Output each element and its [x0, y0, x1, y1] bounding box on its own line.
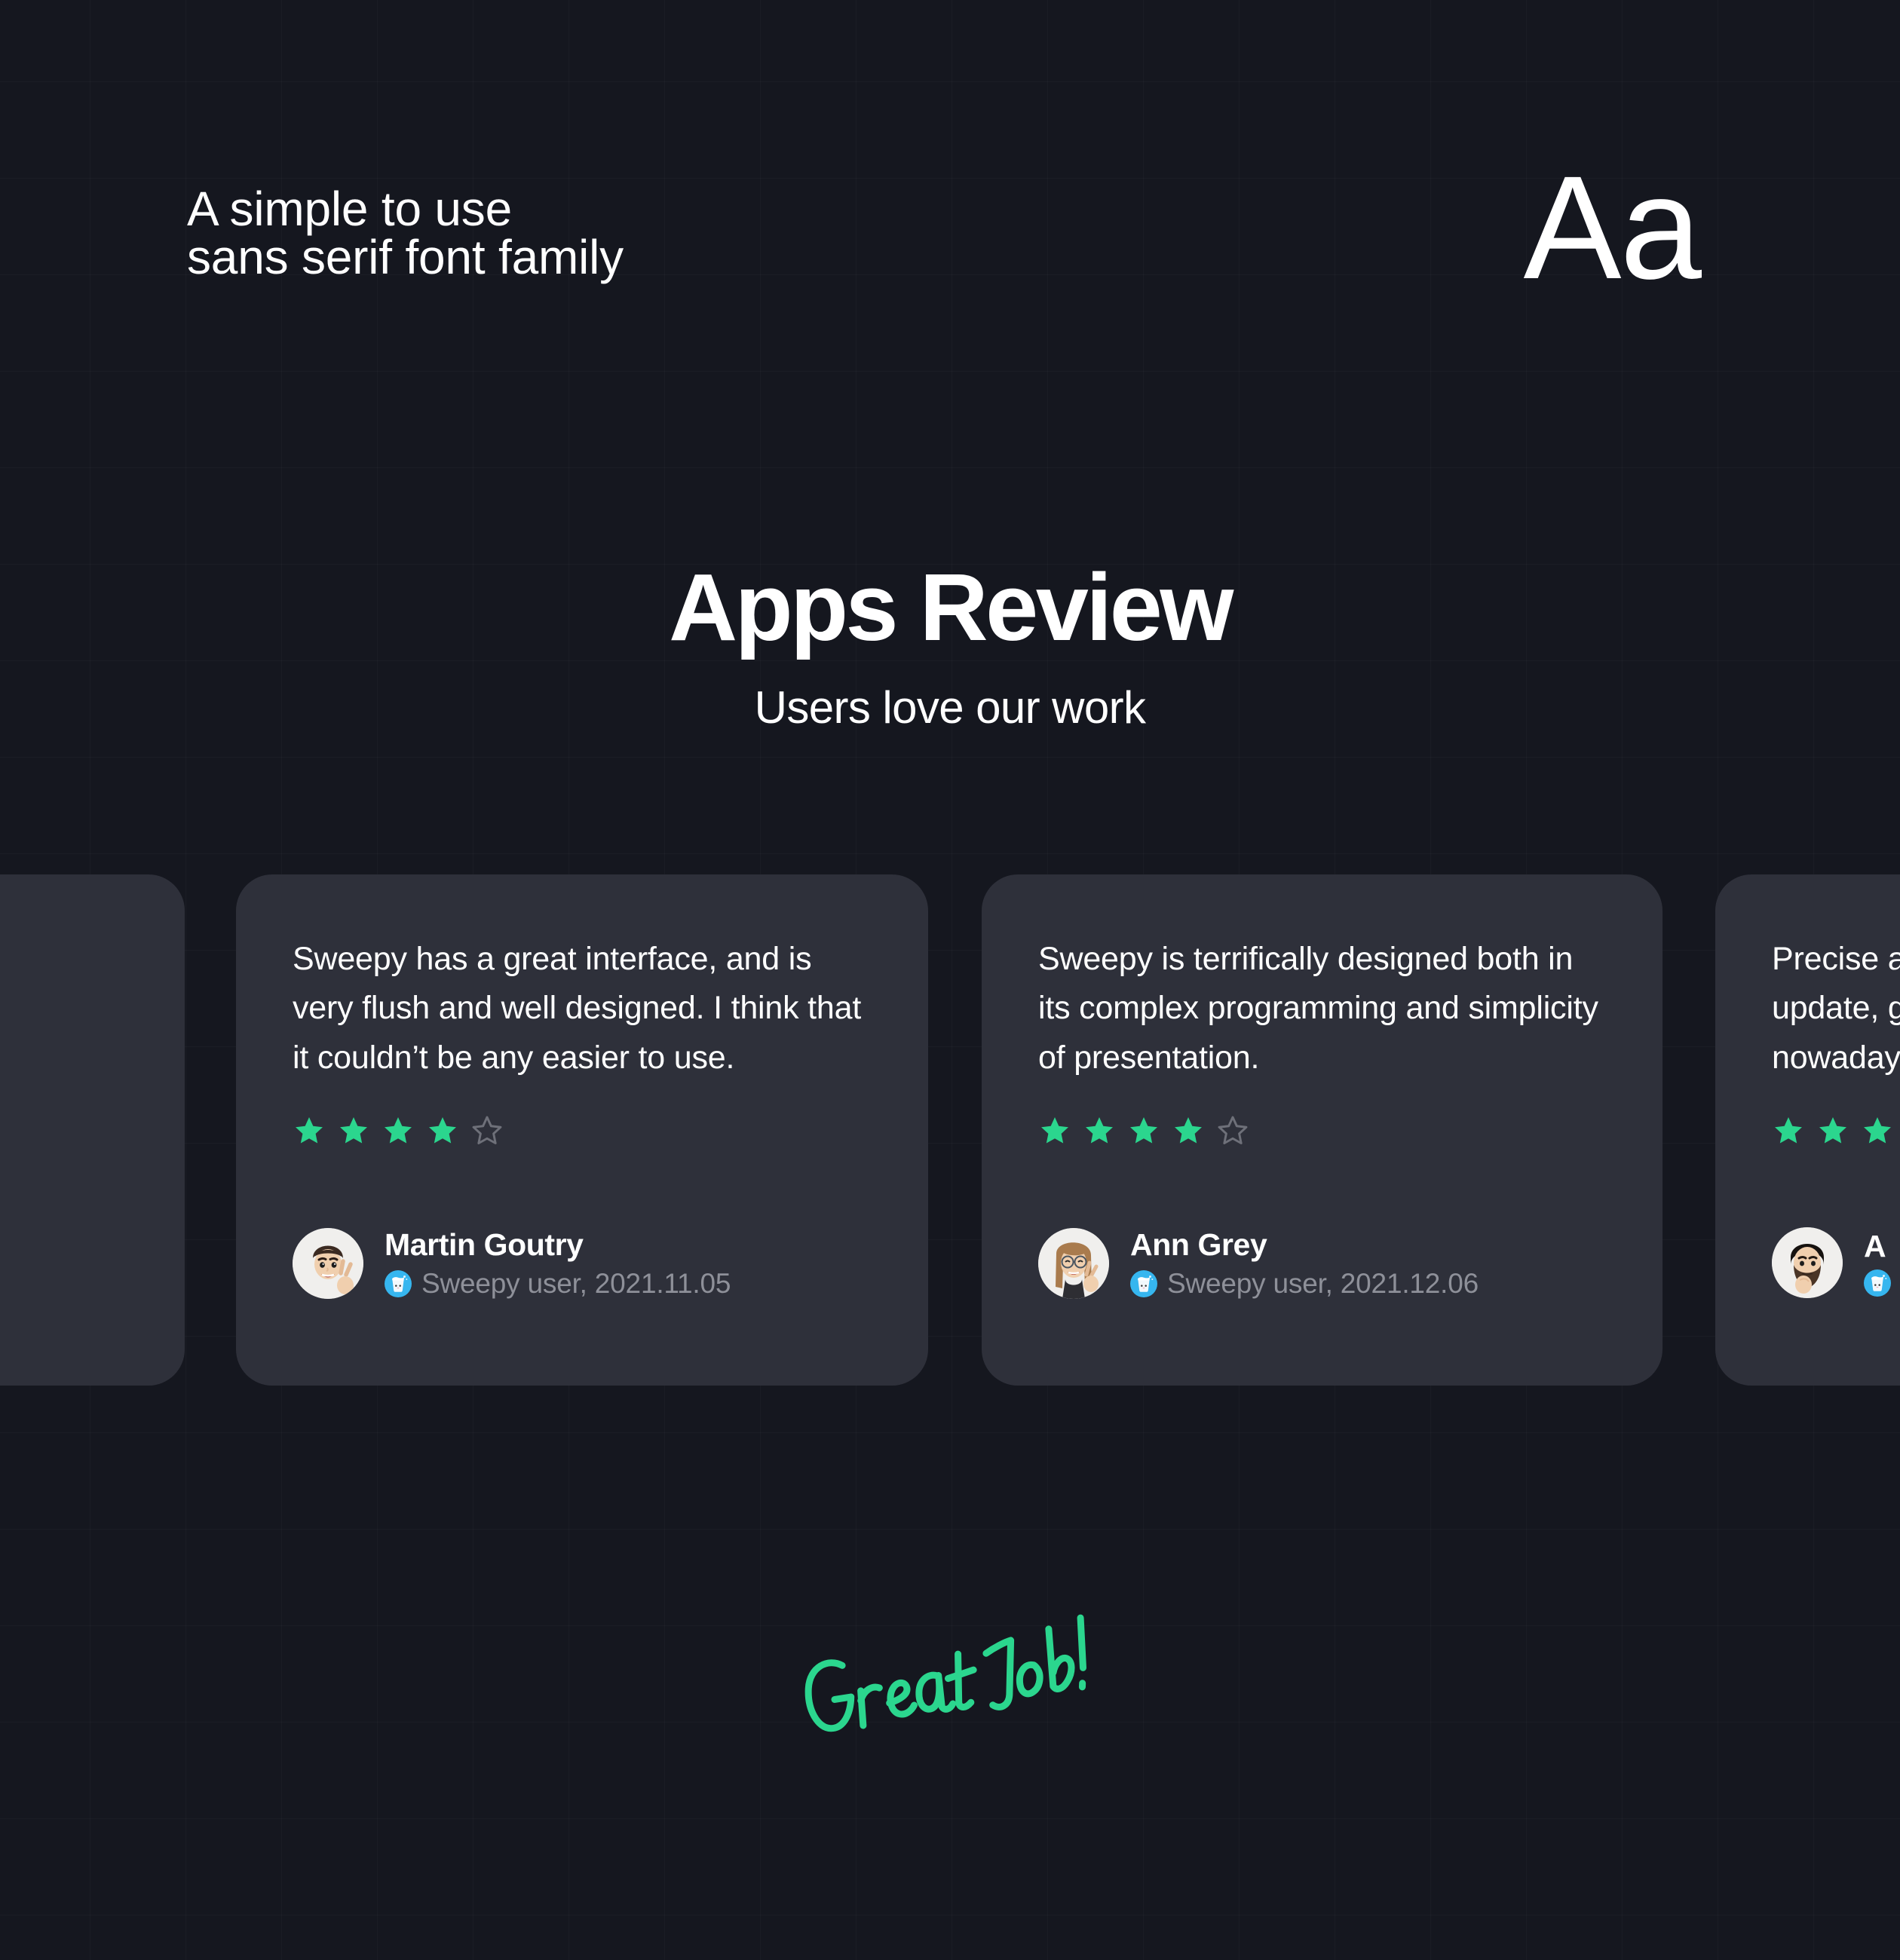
- star-filled-icon[interactable]: [382, 1114, 415, 1147]
- author-subline: Sweepy user, 2021.11.05: [385, 1268, 731, 1300]
- author-meta: Ann Grey Sweepy user, 2021.12.06: [1130, 1227, 1479, 1300]
- review-carousel[interactable]: ...anent ...edSweepy has a great interfa…: [0, 874, 1900, 1395]
- author-name: Martin Goutry: [385, 1227, 731, 1263]
- sweepy-app-icon: [385, 1270, 412, 1297]
- star-filled-icon[interactable]: [293, 1114, 326, 1147]
- review-card-body: Sweepy has a great interface, and is ver…: [293, 935, 872, 1083]
- heading-block: Apps Review Users love our work: [0, 558, 1900, 733]
- great-job-handwriting: [788, 1609, 1105, 1745]
- star-filled-icon[interactable]: [337, 1114, 370, 1147]
- author-subline: [1864, 1269, 1900, 1297]
- review-card-body: ...anent ...ed: [0, 935, 128, 1034]
- great-job-script: [788, 1609, 1105, 1745]
- avatar-memoji-man-beard: [1772, 1227, 1843, 1298]
- review-card[interactable]: Precise a update, g nowaday A: [1715, 874, 1900, 1386]
- avatar: [293, 1228, 363, 1299]
- review-author: A: [1772, 1227, 1900, 1298]
- review-card[interactable]: Sweepy has a great interface, and is ver…: [236, 874, 928, 1386]
- avatar: [1772, 1227, 1843, 1298]
- star-filled-icon[interactable]: [1038, 1114, 1071, 1147]
- review-card-body: Sweepy is terrifically designed both in …: [1038, 935, 1606, 1083]
- author-sub-text: Sweepy user, 2021.11.05: [421, 1268, 731, 1300]
- author-name: Ann Grey: [1130, 1227, 1479, 1263]
- star-filled-icon[interactable]: [1772, 1114, 1805, 1147]
- star-filled-icon[interactable]: [1083, 1114, 1116, 1147]
- author-meta: A: [1864, 1229, 1900, 1297]
- rating-stars[interactable]: [1038, 1114, 1249, 1147]
- star-filled-icon[interactable]: [426, 1114, 459, 1147]
- page-title: Apps Review: [0, 558, 1900, 657]
- star-outline-icon[interactable]: [1216, 1114, 1249, 1147]
- author-name: A: [1864, 1229, 1900, 1264]
- author-meta: Martin Goutry Sweepy user, 2021.11.05: [385, 1227, 731, 1300]
- author-subline: Sweepy user, 2021.12.06: [1130, 1268, 1479, 1300]
- star-filled-icon[interactable]: [1861, 1114, 1894, 1147]
- review-author: Martin Goutry Sweepy user, 2021.11.05: [293, 1227, 731, 1300]
- avatar: [1038, 1228, 1109, 1299]
- font-specimen-section: A simple to use sans serif font family A…: [0, 0, 1900, 392]
- sweepy-app-icon: [1130, 1270, 1157, 1297]
- review-text: Sweepy is terrifically designed both in …: [1038, 935, 1606, 1083]
- page-subtitle: Users love our work: [0, 681, 1900, 733]
- author-sub-text: Sweepy user, 2021.12.06: [1167, 1268, 1479, 1300]
- review-card-body: Precise a update, g nowaday: [1772, 935, 1900, 1083]
- review-card[interactable]: ...anent ...ed: [0, 874, 185, 1386]
- aa-specimen: Aa: [1523, 155, 1700, 302]
- star-filled-icon[interactable]: [1172, 1114, 1205, 1147]
- avatar-memoji-woman-glasses: [1038, 1228, 1109, 1299]
- review-text: ...anent ...ed: [0, 935, 128, 1034]
- avatar-memoji-man-peace: [293, 1228, 363, 1299]
- review-card[interactable]: Sweepy is terrifically designed both in …: [982, 874, 1662, 1386]
- star-filled-icon[interactable]: [1816, 1114, 1849, 1147]
- review-text: Precise a update, g nowaday: [1772, 935, 1900, 1083]
- review-author: Ann Grey Sweepy user, 2021.12.06: [1038, 1227, 1479, 1300]
- star-outline-icon[interactable]: [470, 1114, 504, 1147]
- sweepy-app-icon: [1864, 1269, 1891, 1297]
- star-filled-icon[interactable]: [1127, 1114, 1160, 1147]
- rating-stars[interactable]: [1772, 1114, 1900, 1147]
- font-tagline: A simple to use sans serif font family: [187, 185, 624, 281]
- review-text: Sweepy has a great interface, and is ver…: [293, 935, 872, 1083]
- rating-stars[interactable]: [293, 1114, 504, 1147]
